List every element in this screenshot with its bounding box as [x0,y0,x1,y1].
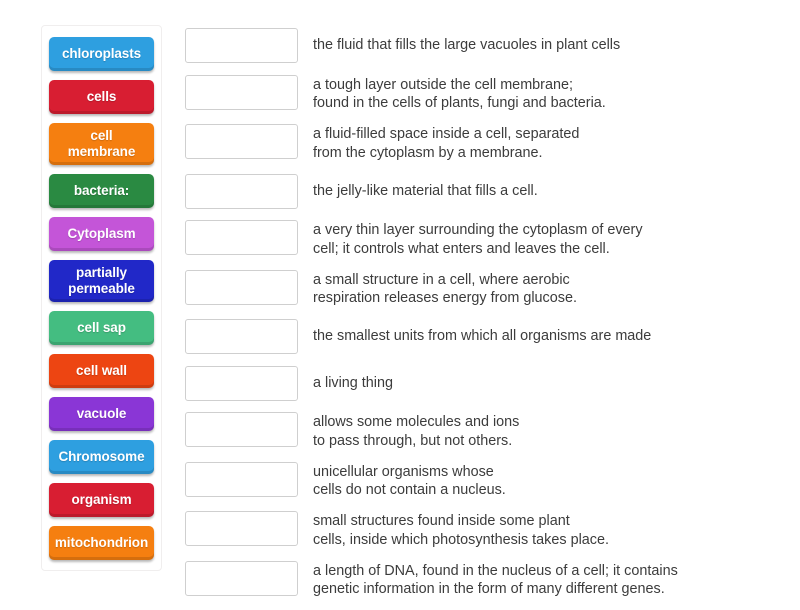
word-tile[interactable]: partially permeable [49,260,154,302]
definition-text: a small structure in a cell, where aerob… [313,270,785,308]
definition-text: unicellular organisms whose cells do not… [313,462,785,500]
definition-text: the smallest units from which all organi… [313,319,785,346]
answer-dropzone[interactable] [185,124,298,159]
word-tile[interactable]: chloroplasts [49,37,154,71]
answer-dropzone[interactable] [185,366,298,401]
match-row: a tough layer outside the cell membrane;… [185,75,785,113]
answer-dropzone[interactable] [185,511,298,546]
word-tile[interactable]: mitochondrion [49,526,154,560]
word-tile[interactable]: bacteria: [49,174,154,208]
definition-text: the jelly-like material that fills a cel… [313,174,785,201]
answer-dropzone[interactable] [185,561,298,596]
word-tile[interactable]: organism [49,483,154,517]
word-tile[interactable]: Chromosome [49,440,154,474]
answer-dropzone[interactable] [185,174,298,209]
match-row: the smallest units from which all organi… [185,319,785,354]
word-tile[interactable]: cells [49,80,154,114]
match-row: small structures found inside some plant… [185,511,785,549]
definition-text: allows some molecules and ions to pass t… [313,412,785,450]
definition-text: a living thing [313,366,785,393]
match-row: unicellular organisms whose cells do not… [185,462,785,500]
word-tile[interactable]: cell sap [49,311,154,345]
answer-dropzone[interactable] [185,412,298,447]
word-tile-tray: chloroplastscellscell membranebacteria:C… [41,25,162,571]
definition-text: a length of DNA, found in the nucleus of… [313,561,785,599]
word-tile[interactable]: cell wall [49,354,154,388]
definition-text: a very thin layer surrounding the cytopl… [313,220,785,258]
definition-text: small structures found inside some plant… [313,511,785,549]
answer-dropzone[interactable] [185,220,298,255]
match-row: a length of DNA, found in the nucleus of… [185,561,785,599]
match-row: the fluid that fills the large vacuoles … [185,28,785,63]
answer-dropzone[interactable] [185,270,298,305]
match-row: a small structure in a cell, where aerob… [185,270,785,308]
answer-dropzone[interactable] [185,28,298,63]
word-tile[interactable]: cell membrane [49,123,154,165]
answer-dropzone[interactable] [185,75,298,110]
match-row: a very thin layer surrounding the cytopl… [185,220,785,258]
answer-dropzone[interactable] [185,462,298,497]
definition-text: the fluid that fills the large vacuoles … [313,28,785,55]
match-row: the jelly-like material that fills a cel… [185,174,785,209]
match-row: a living thing [185,366,785,401]
definition-text: a tough layer outside the cell membrane;… [313,75,785,113]
word-tile[interactable]: Cytoplasm [49,217,154,251]
match-up-activity: chloroplastscellscell membranebacteria:C… [0,0,800,600]
match-row: a fluid-filled space inside a cell, sepa… [185,124,785,162]
word-tile[interactable]: vacuole [49,397,154,431]
definition-text: a fluid-filled space inside a cell, sepa… [313,124,785,162]
definition-rows: the fluid that fills the large vacuoles … [185,28,785,610]
answer-dropzone[interactable] [185,319,298,354]
match-row: allows some molecules and ions to pass t… [185,412,785,450]
